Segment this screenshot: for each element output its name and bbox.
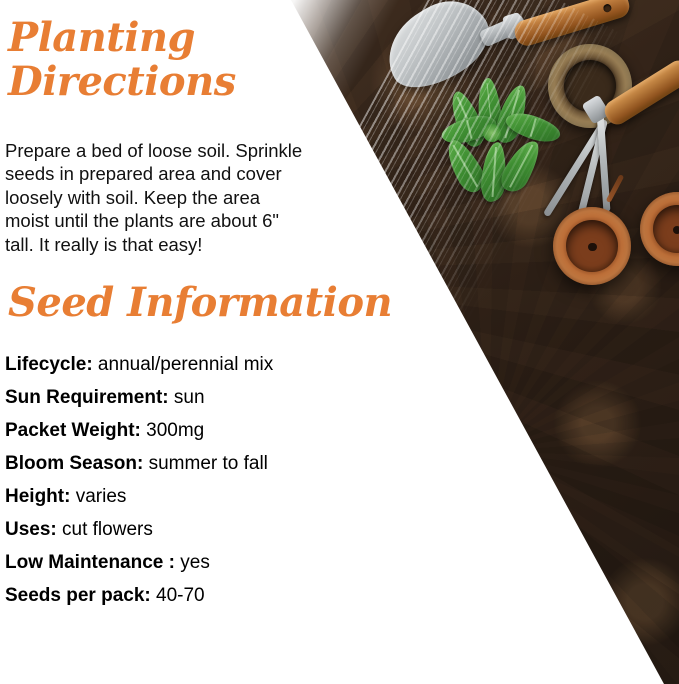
seed-info-row: Low Maintenance : yes <box>5 546 385 579</box>
seed-info-label: Lifecycle: <box>5 354 93 375</box>
seed-info-value: sun <box>169 387 205 408</box>
seed-info-value: 300mg <box>141 420 204 441</box>
seed-info-label: Bloom Season: <box>5 453 143 474</box>
heading-line-2: Directions <box>8 60 236 104</box>
seed-info-row: Sun Requirement: sun <box>5 381 385 414</box>
seed-info-row: Packet Weight: 300mg <box>5 414 385 447</box>
seed-info-row: Height: varies <box>5 480 385 513</box>
seed-info-label: Packet Weight: <box>5 420 141 441</box>
seedling-center-icon <box>483 124 501 142</box>
seed-info-row: Uses: cut flowers <box>5 513 385 546</box>
planting-directions-body: Prepare a bed of loose soil. Sprinkle se… <box>5 139 357 257</box>
seed-info-label: Seeds per pack: <box>5 585 151 606</box>
seed-info-label: Uses: <box>5 519 57 540</box>
seed-info-value: 40-70 <box>151 585 205 606</box>
seed-info-label: Sun Requirement: <box>5 387 169 408</box>
seed-packet-info-card: Planting Directions Prepare a bed of loo… <box>0 0 679 684</box>
terracotta-pot-icon <box>553 207 631 285</box>
seed-info-value: varies <box>70 486 126 507</box>
seed-info-row: Seeds per pack: 40-70 <box>5 579 385 612</box>
seed-info-label: Low Maintenance : <box>5 552 175 573</box>
text-column: Planting Directions Prepare a bed of loo… <box>0 0 400 684</box>
seed-information-list: Lifecycle: annual/perennial mixSun Requi… <box>5 348 385 612</box>
heading-line-1: Planting <box>8 16 236 60</box>
seed-info-value: summer to fall <box>143 453 268 474</box>
seed-info-row: Bloom Season: summer to fall <box>5 447 385 480</box>
seed-info-row: Lifecycle: annual/perennial mix <box>5 348 385 381</box>
seed-info-value: annual/perennial mix <box>93 354 274 375</box>
planting-directions-heading: Planting Directions <box>8 16 236 104</box>
seed-info-value: yes <box>175 552 210 573</box>
seed-info-value: cut flowers <box>57 519 153 540</box>
seed-info-label: Height: <box>5 486 70 507</box>
seed-information-heading: Seed Information <box>8 281 392 325</box>
